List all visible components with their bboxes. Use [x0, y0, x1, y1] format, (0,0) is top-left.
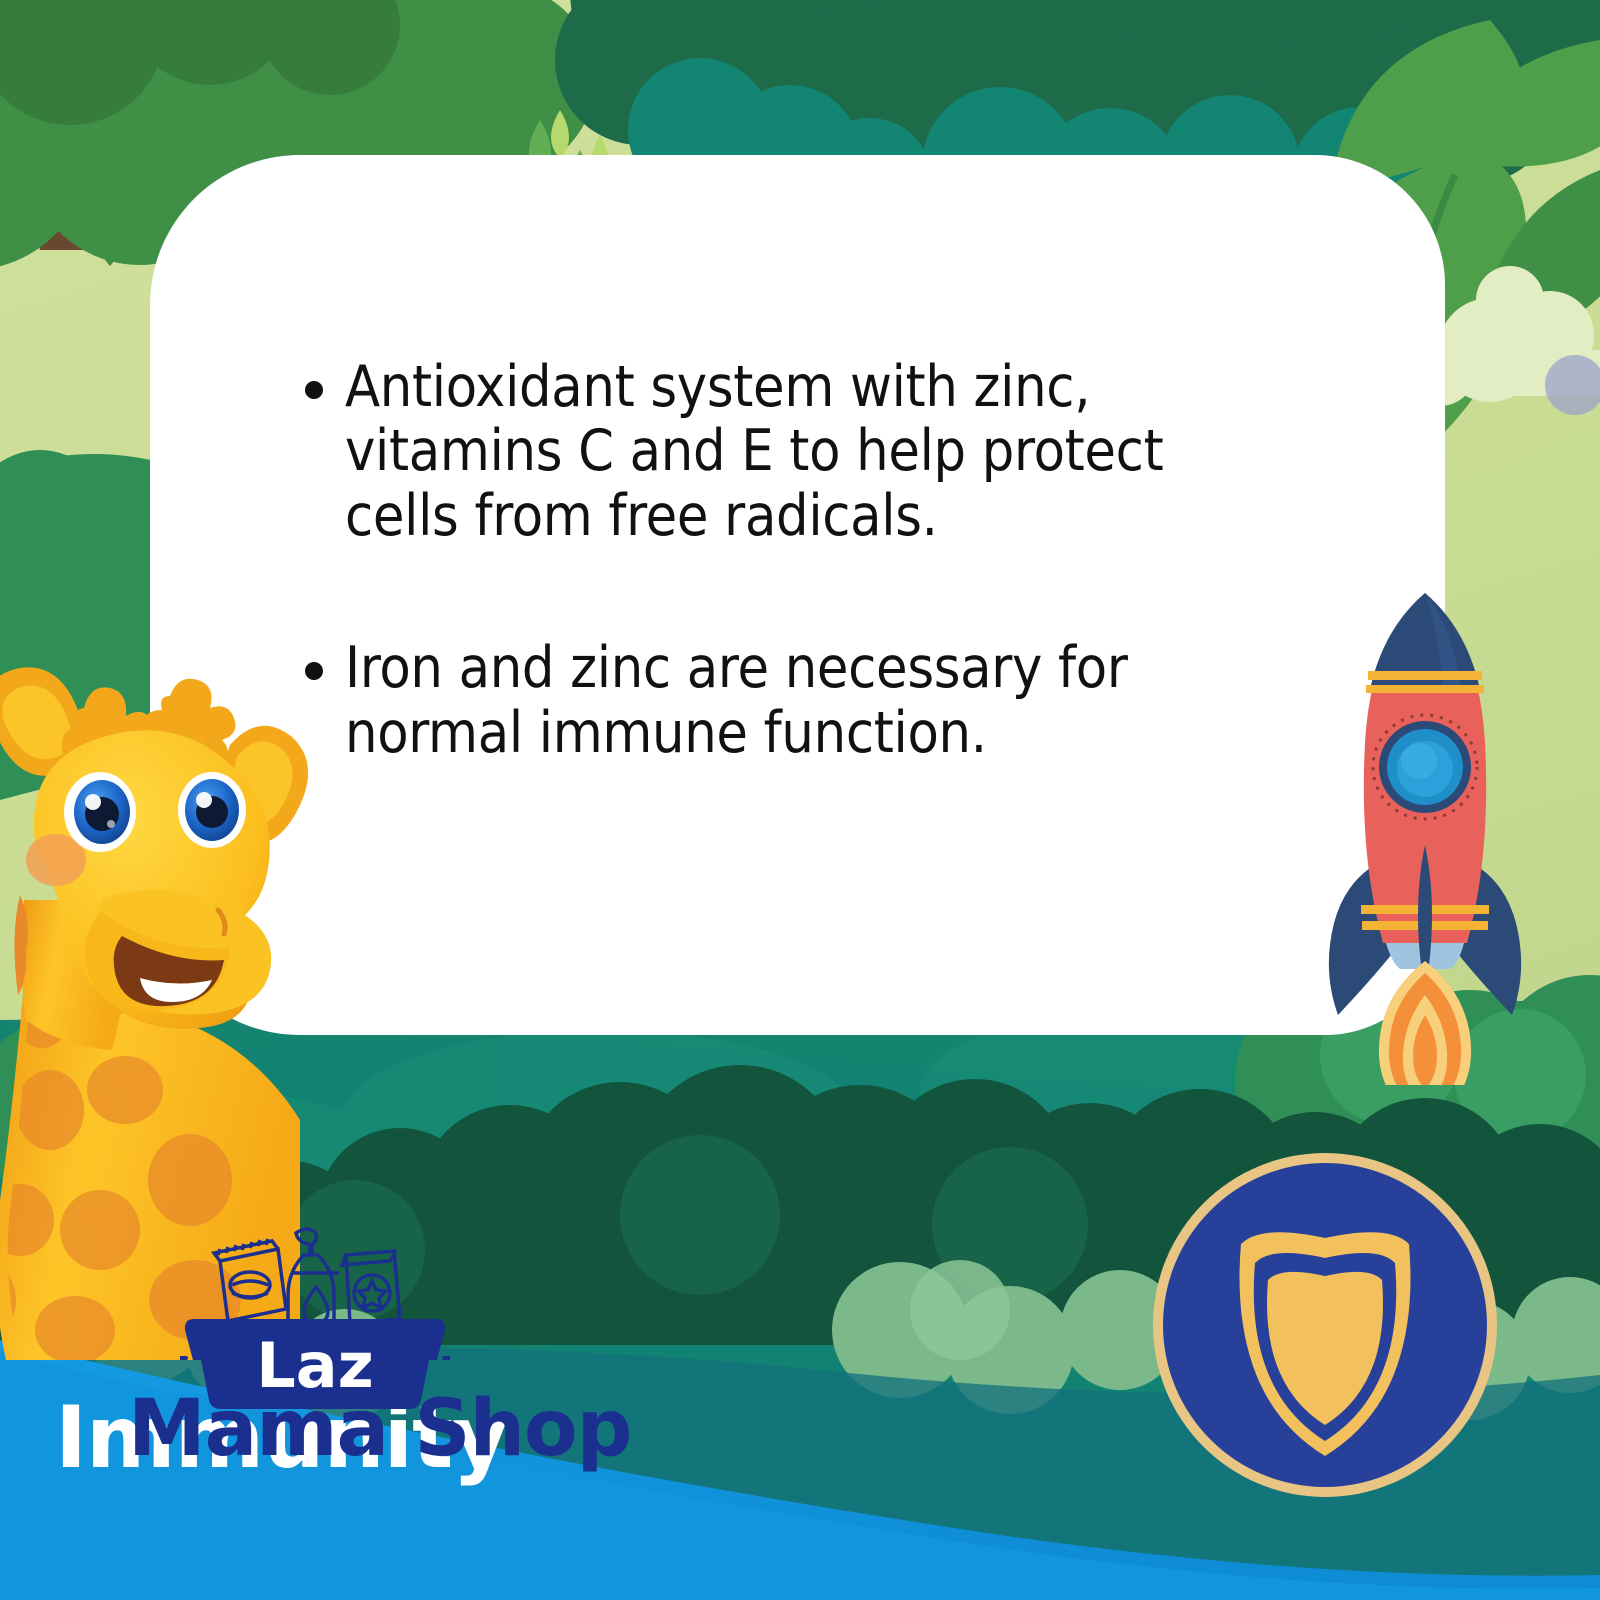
product-box-icon [342, 1251, 400, 1323]
bullet-item-1: Antioxidant system with zinc, vitamins C… [305, 355, 1265, 548]
immunity-shield-badge [1150, 1150, 1500, 1500]
bullet-marker-icon [305, 662, 323, 680]
rocket-flame-icon [1379, 961, 1471, 1085]
bullet-marker-icon [305, 381, 323, 399]
logo-sub-word: Mama Shop [128, 1390, 631, 1468]
bullet-list: Antioxidant system with zinc, vitamins C… [305, 355, 1265, 765]
giraffe-eye-left [64, 772, 136, 852]
giraffe-eye-right [178, 772, 246, 848]
rocket-illustration [1300, 575, 1550, 1085]
product-tube-icon [214, 1239, 286, 1321]
bullet-text-2: Iron and zinc are necessary for normal i… [345, 636, 1265, 765]
bullet-item-2: Iron and zinc are necessary for normal i… [305, 636, 1265, 765]
product-pump-bottle-icon [288, 1229, 339, 1323]
bullet-text-1: Antioxidant system with zinc, vitamins C… [345, 355, 1265, 548]
poster-canvas: Antioxidant system with zinc, vitamins C… [0, 0, 1600, 1600]
